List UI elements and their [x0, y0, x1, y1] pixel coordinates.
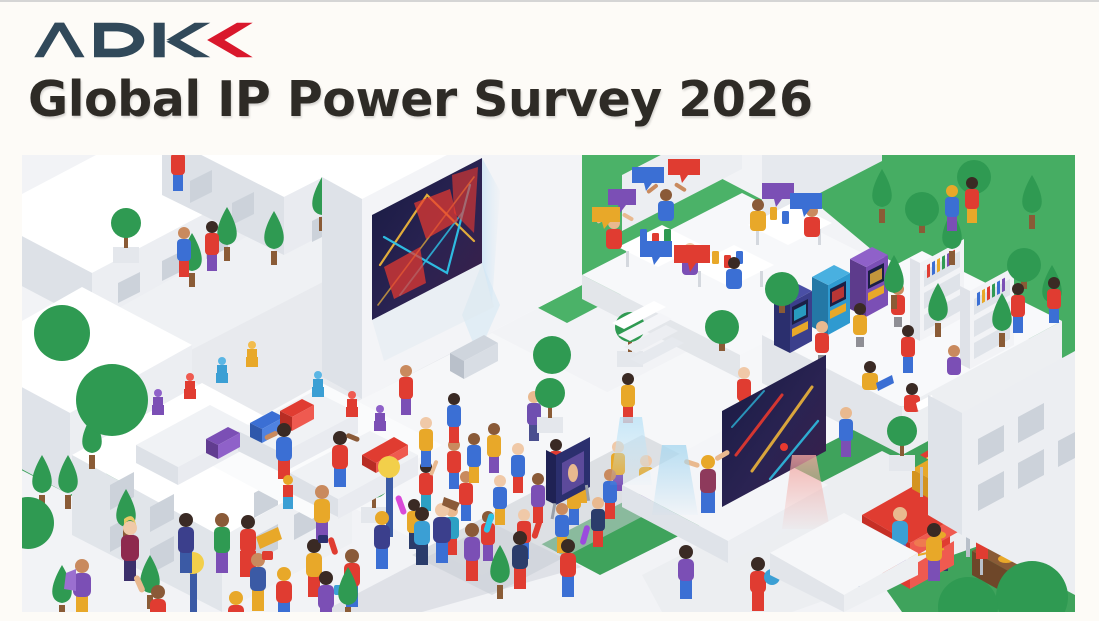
page-title: Global IP Power Survey 2026: [28, 74, 1068, 125]
hero-illustration: [22, 155, 1075, 612]
slide-header: Global IP Power Survey 2026: [28, 18, 1068, 125]
top-divider: [0, 0, 1099, 2]
left-margin: [0, 150, 22, 621]
slide-canvas: Global IP Power Survey 2026: [0, 0, 1099, 621]
adk-logo: [28, 18, 264, 62]
isometric-city-svg: [22, 155, 1075, 612]
bottom-margin: [0, 612, 1099, 621]
right-margin: [1075, 150, 1099, 621]
